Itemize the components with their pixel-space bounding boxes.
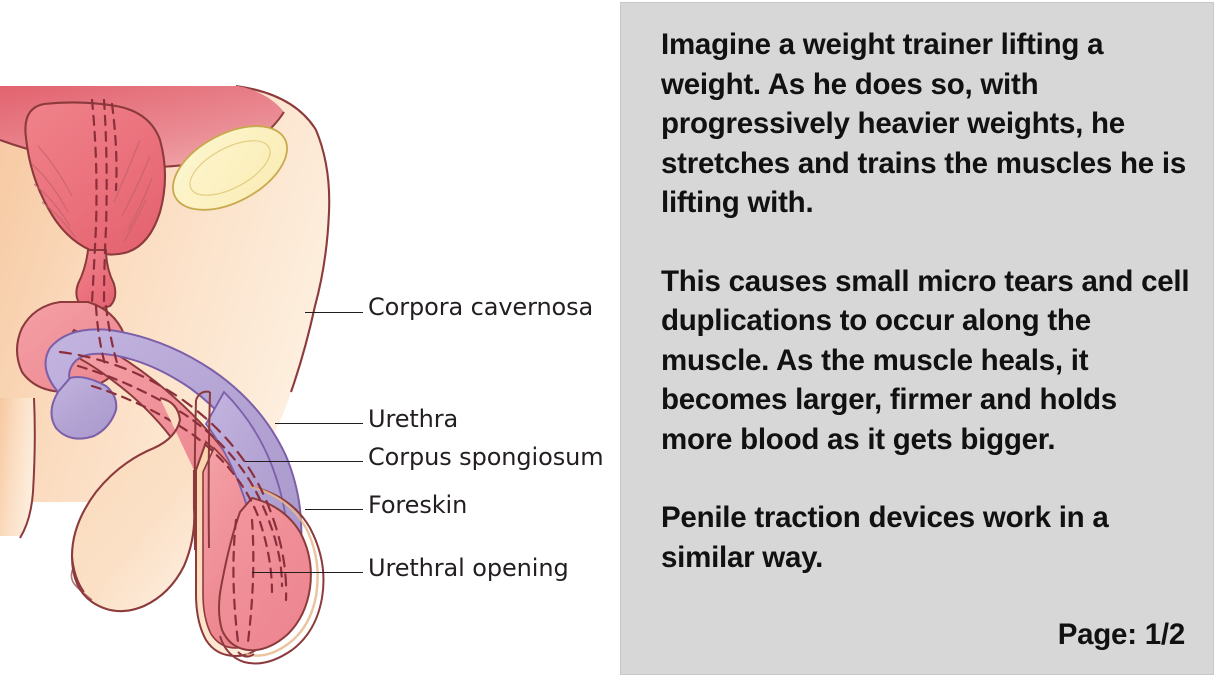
info-text-card: Imagine a weight trainer lifting a weigh…	[620, 2, 1214, 675]
leader-line-urethra	[275, 423, 363, 424]
page-indicator: Page: 1/2	[1058, 618, 1185, 652]
paragraph-1: Imagine a weight trainer lifting a weigh…	[661, 25, 1191, 223]
label-urethral-opening: Urethral opening	[368, 554, 569, 582]
leader-line-urethral-opening	[252, 572, 363, 573]
leader-line-corpus-spongiosum	[245, 461, 363, 462]
leader-line-foreskin	[305, 509, 363, 510]
paragraph-3: Penile traction devices work in a simila…	[661, 498, 1191, 577]
diagram-label-layer: Corpora cavernosa Urethra Corpus spongio…	[0, 0, 620, 681]
card-text-body: Imagine a weight trainer lifting a weigh…	[661, 25, 1191, 577]
anatomy-diagram-pane: Corpora cavernosa Urethra Corpus spongio…	[0, 0, 620, 681]
paragraph-2: This causes small micro tears and cell d…	[661, 262, 1191, 460]
label-corpus-spongiosum: Corpus spongiosum	[368, 443, 604, 471]
label-corpora-cavernosa: Corpora cavernosa	[368, 293, 593, 321]
label-foreskin: Foreskin	[368, 491, 467, 519]
leader-line-corpora-cavernosa	[305, 312, 363, 313]
label-urethra: Urethra	[368, 405, 458, 433]
